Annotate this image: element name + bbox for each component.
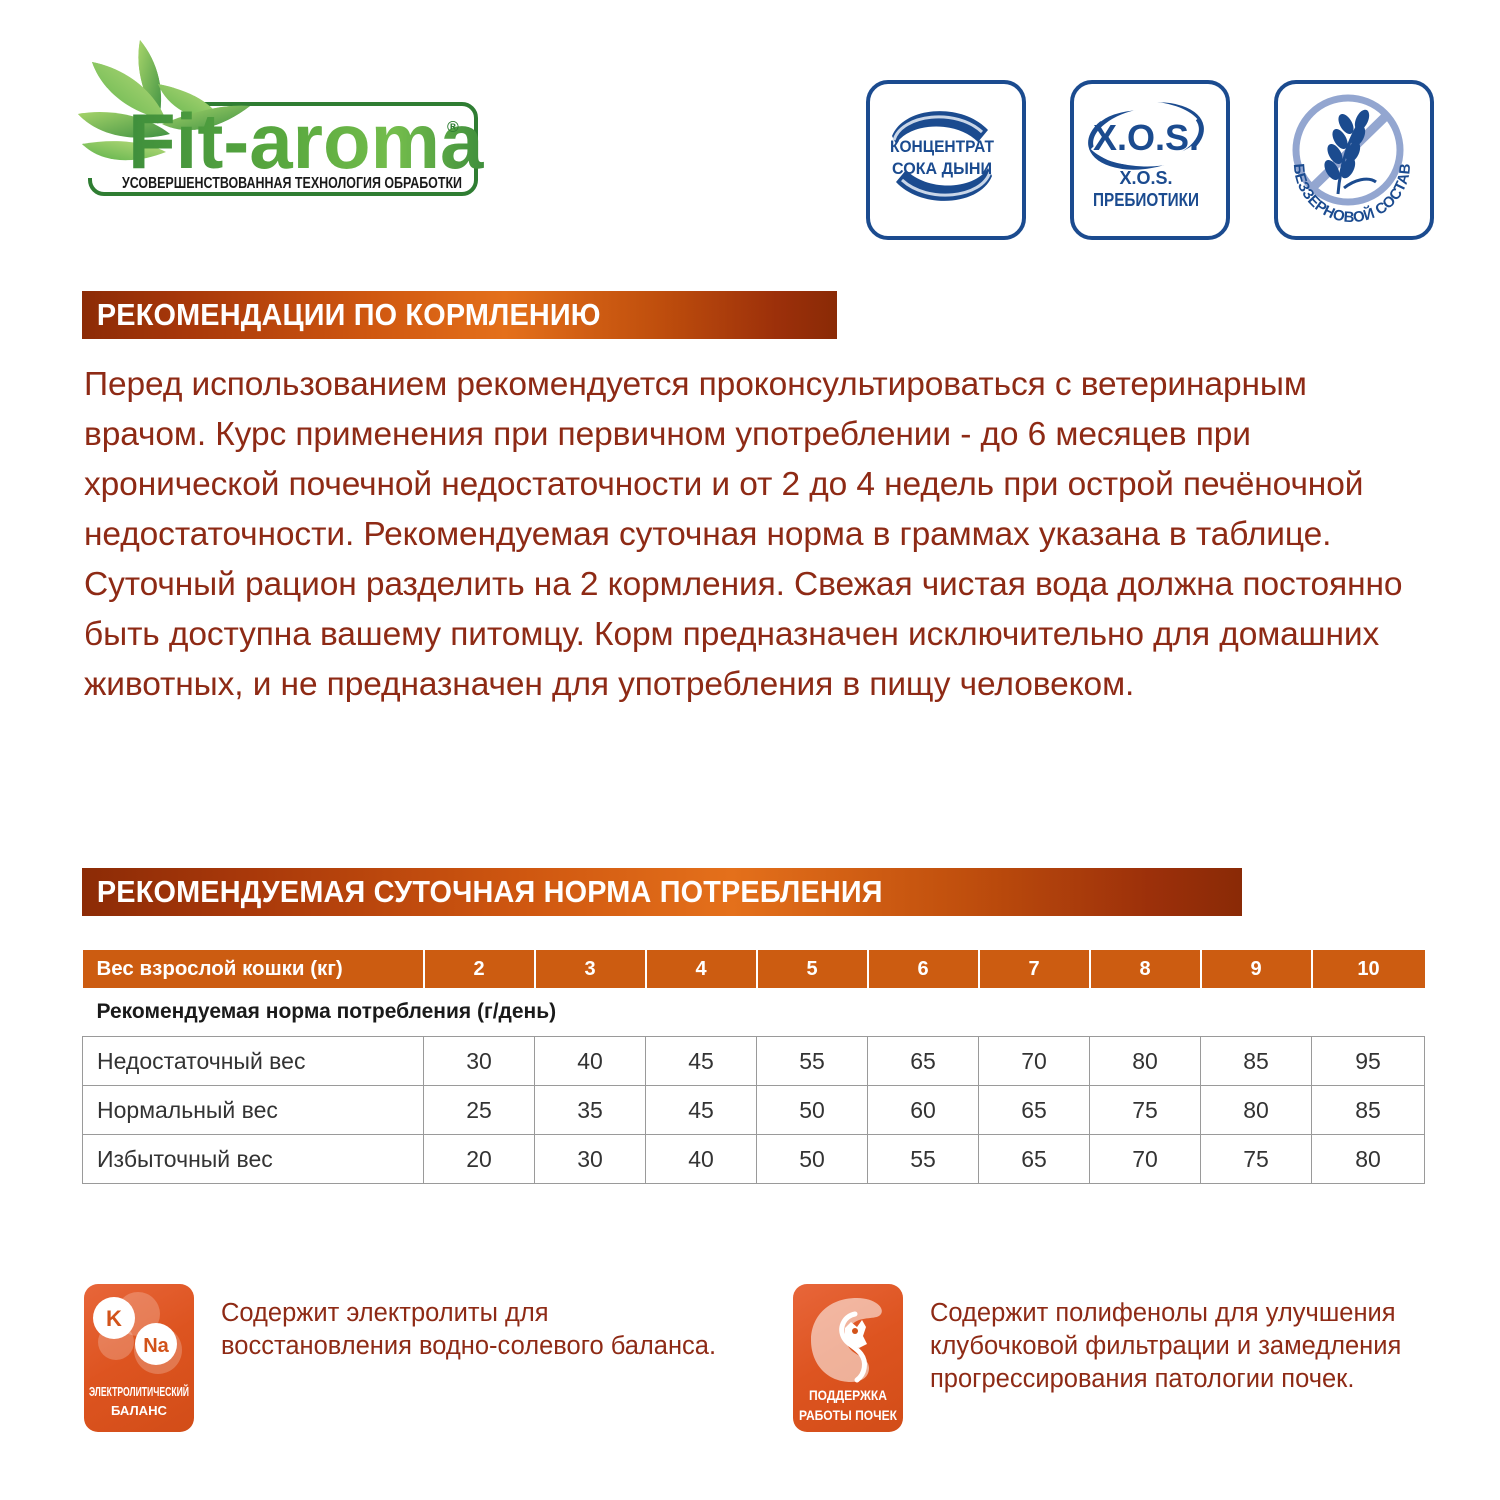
registered-mark-icon: ® — [447, 119, 459, 136]
kidney-support-icon: ПОДДЕРЖКА РАБОТЫ ПОЧЕК — [793, 1284, 903, 1432]
symbol-na: Na — [143, 1335, 169, 1357]
badge-line-2: БАЛАНС — [111, 1404, 167, 1418]
heading-text: РЕКОМЕНДУЕМАЯ СУТОЧНАЯ НОРМА ПОТРЕБЛЕНИЯ — [82, 874, 883, 910]
feature-description: Содержит электролиты для восстановления … — [221, 1284, 721, 1363]
table-header-label: Вес взрослой кошки (кг) — [83, 950, 424, 988]
svg-text:X.O.S.: X.O.S. — [1093, 117, 1199, 158]
badge-line-1: ЭЛЕКТРОЛИТИЧЕСКИЙ — [89, 1384, 189, 1399]
logo-wordmark: Fit-aroma — [128, 97, 484, 185]
feeding-recommendations-body: Перед использованием рекомендуется проко… — [84, 360, 1436, 710]
table-cell: 30 — [535, 1135, 646, 1184]
table-header-row: Вес взрослой кошки (кг) 2 3 4 5 6 7 8 9 … — [83, 950, 1425, 988]
table-cell: 65 — [868, 1037, 979, 1086]
table-cell: 45 — [646, 1037, 757, 1086]
table-header-cell: 10 — [1312, 950, 1425, 988]
table-header-cell: 2 — [424, 950, 535, 988]
row-label: Нормальный вес — [83, 1086, 424, 1135]
table-cell: 85 — [1201, 1037, 1312, 1086]
brand-logo: Fit-aroma ® УСОВЕРШЕНСТВОВАННАЯ ТЕХНОЛОГ… — [62, 28, 532, 218]
table-cell: 40 — [535, 1037, 646, 1086]
symbol-k: K — [106, 1306, 122, 1331]
logo-tagline: УСОВЕРШЕНСТВОВАННАЯ ТЕХНОЛОГИЯ ОБРАБОТКИ — [122, 175, 462, 192]
table-cell: 30 — [424, 1037, 535, 1086]
table-header-cell: 4 — [646, 950, 757, 988]
logo-graphic: Fit-aroma ® УСОВЕРШЕНСТВОВАННАЯ ТЕХНОЛОГ… — [62, 28, 532, 218]
daily-ration-heading: РЕКОМЕНДУЕМАЯ СУТОЧНАЯ НОРМА ПОТРЕБЛЕНИЯ — [82, 868, 1242, 916]
table-header-cell: 8 — [1090, 950, 1201, 988]
feature-description: Содержит полифенолы для улучшения клубоч… — [930, 1284, 1430, 1396]
svg-text:ПРЕБИОТИКИ: ПРЕБИОТИКИ — [1093, 190, 1199, 210]
table-header-cell: 5 — [757, 950, 868, 988]
badge-line-2: РАБОТЫ ПОЧЕК — [799, 1407, 897, 1423]
melon-juice-concentrate-icon: КОНЦЕНТРАТ СОКА ДЫНИ — [866, 80, 1026, 240]
table-cell: 50 — [757, 1086, 868, 1135]
table-cell: 45 — [646, 1086, 757, 1135]
feature-electrolyte-balance: K Na ЭЛЕКТРОЛИТИЧЕСКИЙ БАЛАНС Содержит э… — [84, 1284, 721, 1432]
table-subheader-row: Рекомендуемая норма потребления (г/день) — [83, 988, 1425, 1037]
row-label: Избыточный вес — [83, 1135, 424, 1184]
heading-text: РЕКОМЕНДАЦИИ ПО КОРМЛЕНИЮ — [82, 297, 601, 333]
table-row: Избыточный вес 20 30 40 50 55 65 70 75 8… — [83, 1135, 1425, 1184]
electrolyte-balance-icon: K Na ЭЛЕКТРОЛИТИЧЕСКИЙ БАЛАНС — [84, 1284, 194, 1432]
daily-ration-table: Вес взрослой кошки (кг) 2 3 4 5 6 7 8 9 … — [82, 950, 1425, 1184]
feeding-guide-page: Fit-aroma ® УСОВЕРШЕНСТВОВАННАЯ ТЕХНОЛОГ… — [0, 0, 1500, 1500]
table-cell: 65 — [979, 1135, 1090, 1184]
table-cell: 75 — [1090, 1086, 1201, 1135]
row-label: Недостаточный вес — [83, 1037, 424, 1086]
table-cell: 35 — [535, 1086, 646, 1135]
table-cell: 95 — [1312, 1037, 1425, 1086]
table-cell: 55 — [757, 1037, 868, 1086]
table-subheader-label: Рекомендуемая норма потребления (г/день) — [83, 988, 1425, 1037]
table-cell: 80 — [1201, 1086, 1312, 1135]
svg-text:КОНЦЕНТРАТ: КОНЦЕНТРАТ — [890, 138, 994, 156]
table-header-cell: 9 — [1201, 950, 1312, 988]
grain-free-icon: БЕЗЗЕРНОВОЙ СОСТАВ — [1274, 80, 1434, 240]
table-cell: 40 — [646, 1135, 757, 1184]
certification-badges: КОНЦЕНТРАТ СОКА ДЫНИ X.O.S. X.O.S. ПРЕБИ… — [866, 80, 1434, 240]
table-cell: 80 — [1312, 1135, 1425, 1184]
badge-line-1: ПОДДЕРЖКА — [809, 1387, 887, 1403]
table-cell: 60 — [868, 1086, 979, 1135]
table-cell: 55 — [868, 1135, 979, 1184]
table-cell: 65 — [979, 1086, 1090, 1135]
table-cell: 80 — [1090, 1037, 1201, 1086]
table-header-cell: 7 — [979, 950, 1090, 988]
table-header-cell: 6 — [868, 950, 979, 988]
table-row: Нормальный вес 25 35 45 50 60 65 75 80 8… — [83, 1086, 1425, 1135]
table-header-cell: 3 — [535, 950, 646, 988]
table-cell: 70 — [979, 1037, 1090, 1086]
svg-text:СОКА ДЫНИ: СОКА ДЫНИ — [892, 160, 992, 178]
table-cell: 70 — [1090, 1135, 1201, 1184]
table-cell: 75 — [1201, 1135, 1312, 1184]
xos-prebiotics-icon: X.O.S. X.O.S. ПРЕБИОТИКИ — [1070, 80, 1230, 240]
feature-kidney-support: ПОДДЕРЖКА РАБОТЫ ПОЧЕК Содержит полифено… — [793, 1284, 1430, 1432]
feeding-recommendations-heading: РЕКОМЕНДАЦИИ ПО КОРМЛЕНИЮ — [82, 291, 837, 339]
table-cell: 85 — [1312, 1086, 1425, 1135]
table-cell: 50 — [757, 1135, 868, 1184]
table-cell: 25 — [424, 1086, 535, 1135]
svg-text:X.O.S.: X.O.S. — [1119, 168, 1172, 188]
table-row: Недостаточный вес 30 40 45 55 65 70 80 8… — [83, 1037, 1425, 1086]
table-cell: 20 — [424, 1135, 535, 1184]
